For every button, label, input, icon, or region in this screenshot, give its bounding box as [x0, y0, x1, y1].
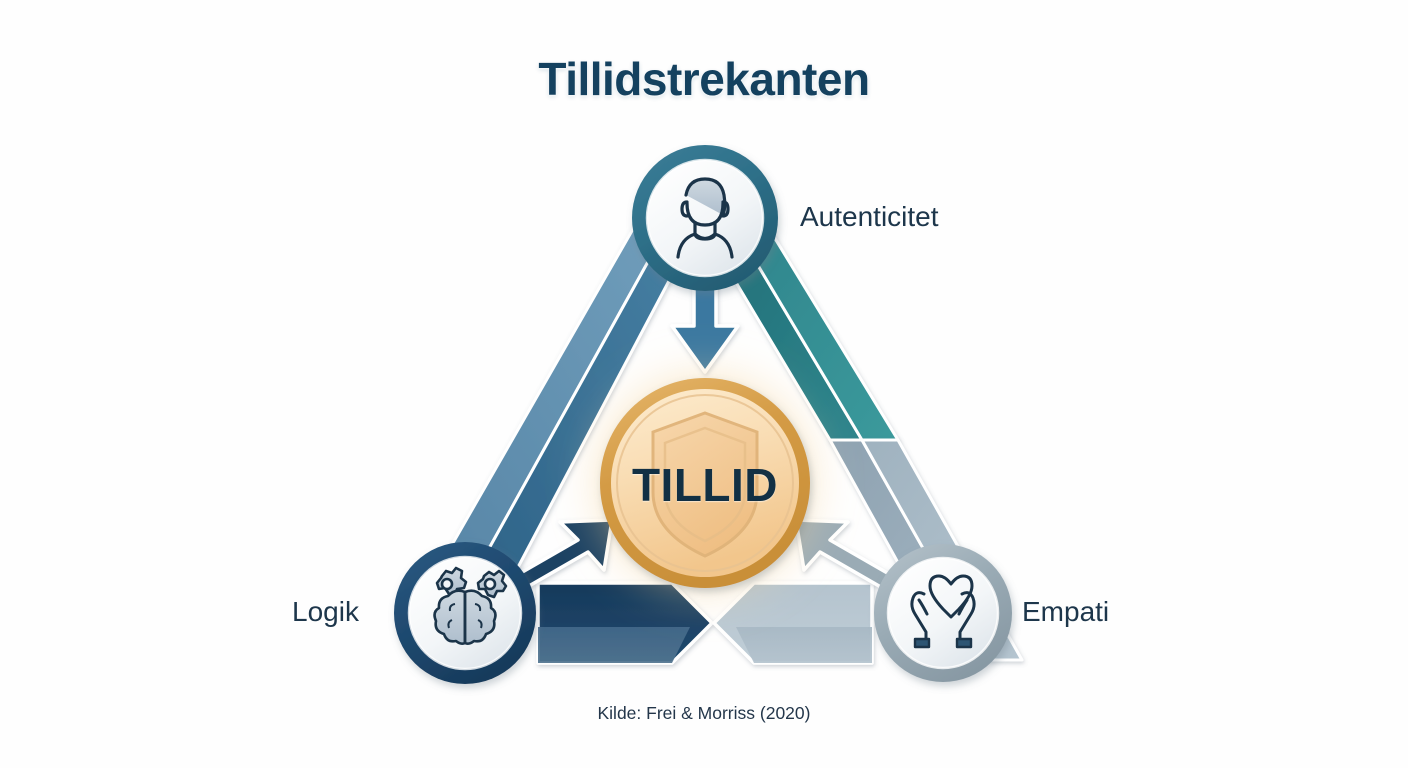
node-autenticitet[interactable] [632, 145, 778, 291]
diagram-canvas: Tillidstrekanten [0, 0, 1408, 768]
center-label: TILLID [605, 458, 805, 512]
node-logik[interactable] [394, 542, 536, 684]
node-empati[interactable] [874, 544, 1012, 682]
node-label-autenticitet: Autenticitet [800, 201, 939, 233]
node-label-logik: Logik [292, 596, 359, 628]
source-caption: Kilde: Frei & Morriss (2020) [0, 703, 1408, 724]
node-label-empati: Empati [1022, 596, 1109, 628]
trust-triangle-diagram [0, 0, 1408, 768]
